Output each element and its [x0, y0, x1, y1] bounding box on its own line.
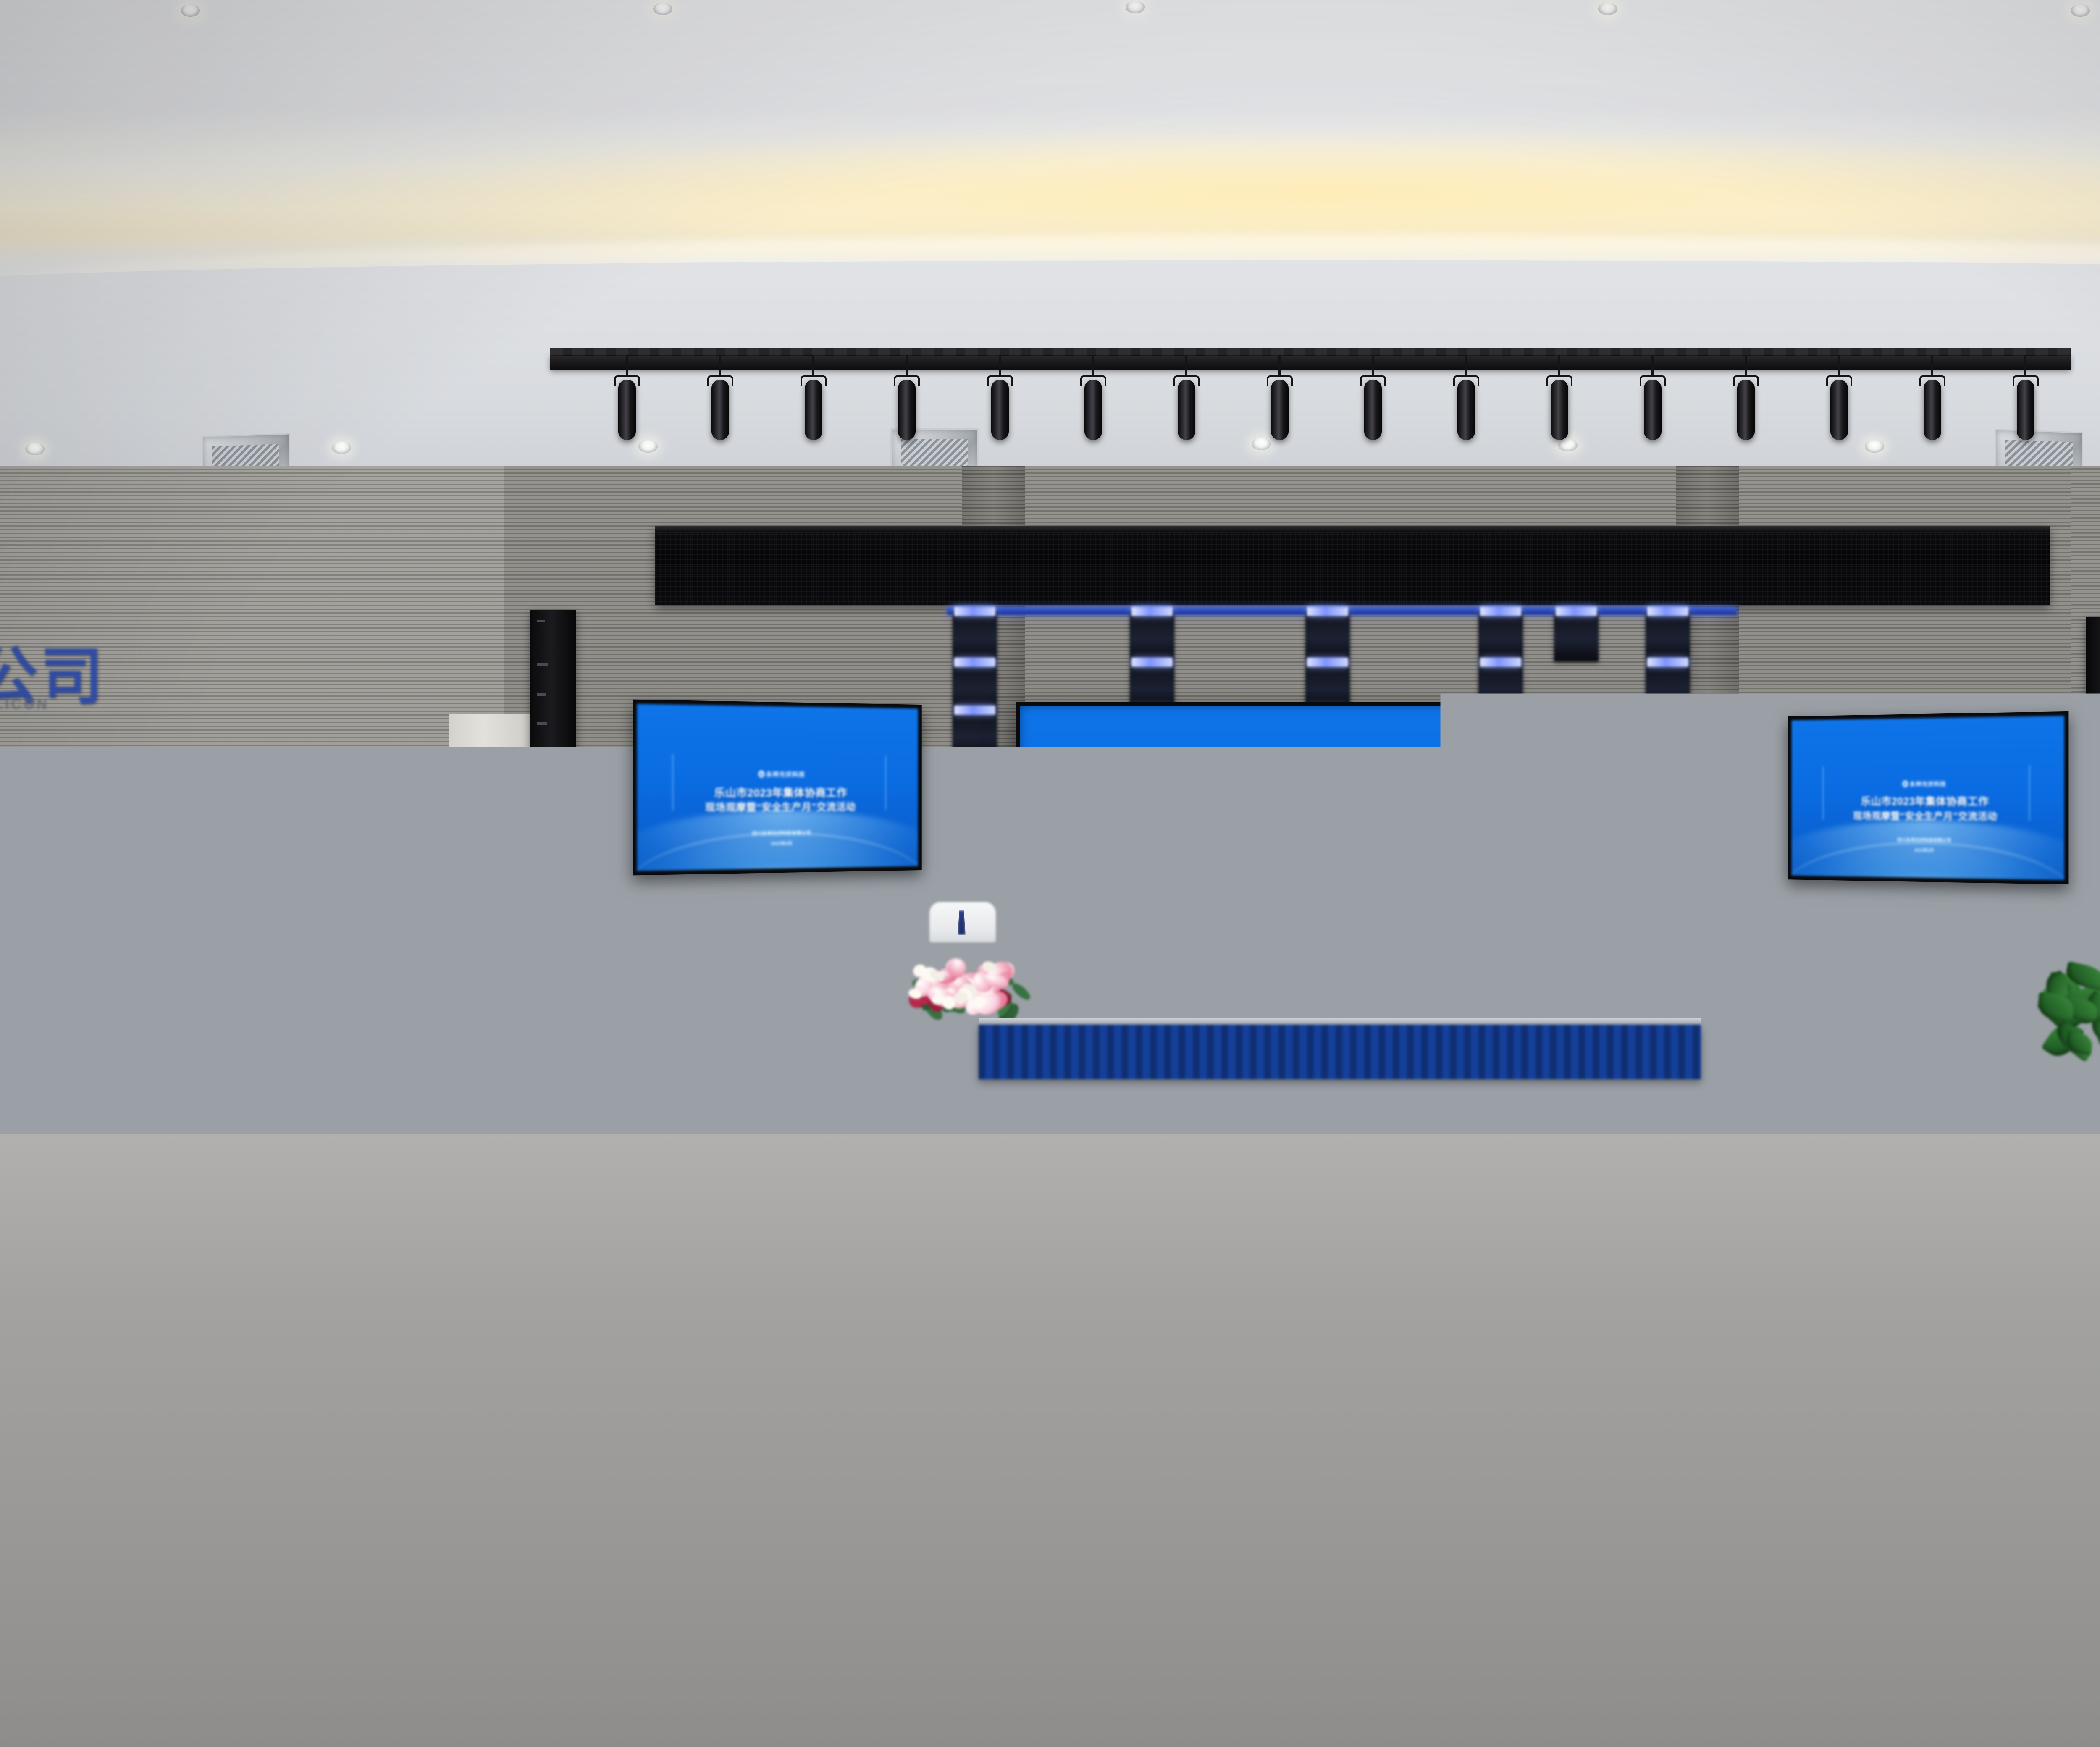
audience-member [0, 1521, 102, 1747]
audience-torso [2087, 1676, 2100, 1747]
audience-head [607, 1131, 654, 1186]
audience-head [1200, 1026, 1229, 1059]
main-screen-logo: 永 永祥光伏科技 YONGXIANG PHOTOVOLTAIC TECHNOLO… [1289, 827, 1391, 850]
audience-head [811, 1134, 858, 1189]
track-spotlight [1825, 369, 1853, 440]
bottle-cap [398, 1159, 408, 1166]
led-weekday: 星期三 [722, 557, 773, 574]
spotlight-housing [898, 380, 916, 440]
audience-head [1119, 1000, 1143, 1028]
bottle-cap [595, 1146, 605, 1153]
audience-head [2015, 1077, 2051, 1119]
audience-head [1276, 1139, 1323, 1194]
conference-room-photo: 公司 SILICON 2023年06月07日 星期三 14:26:46 乐山市2… [0, 0, 2100, 1747]
audience-head [1872, 1233, 1934, 1306]
line-array-speaker-left [530, 610, 576, 770]
audience-head [808, 1031, 836, 1064]
audience-head [775, 1222, 837, 1295]
audience-head [1820, 1001, 1844, 1029]
audience-head [1671, 1031, 1699, 1064]
spotlight-stem [719, 355, 721, 377]
audience-head [1098, 1032, 1126, 1065]
lighting-track-rail [550, 355, 2071, 370]
audience-head [942, 1130, 990, 1184]
track-spotlight [893, 369, 921, 440]
audience-head [847, 1366, 929, 1462]
foreground-head [1094, 1419, 1233, 1587]
stage-light [953, 611, 997, 661]
audience-head [1124, 1075, 1160, 1117]
track-spotlight [1079, 369, 1107, 440]
track-spotlight [1359, 369, 1387, 440]
audience-head [1492, 1077, 1528, 1119]
audience-head [711, 1026, 739, 1059]
stage-light [1554, 611, 1599, 661]
ceiling-downlight [1865, 440, 1884, 453]
stage-light [1646, 611, 1690, 661]
audience-head [133, 1225, 195, 1297]
led-marquee-banner: 2023年06月07日 星期三 14:26:46 乐山市2023年集体协商现场观… [655, 526, 2050, 605]
left-wall-panel [0, 466, 504, 1146]
spotlight-housing [1924, 380, 1941, 440]
left-monitor-slide: 永 永祥光伏科技 乐山市2023年集体协商工作 现场观摩暨“安全生产月”交流活动… [637, 704, 918, 871]
ceiling-downlight [1598, 3, 1617, 15]
audience-head [1591, 1027, 1620, 1060]
water-bottle [592, 1146, 608, 1195]
spotlight-housing [618, 380, 636, 440]
ceiling-downlight [653, 3, 672, 15]
right-monitor-slide: 永 永祥光伏科技 乐山市2023年集体协商工作 现场观摩暨“安全生产月”交流活动… [1792, 716, 2064, 880]
audience-head [1224, 1075, 1260, 1117]
spotlight-stem [1278, 355, 1281, 377]
spotlight-stem [812, 355, 814, 377]
audience-head [747, 1000, 772, 1028]
led-event-title: 乐山市2023年集体协商现场观摩暨“安全生产月”交流活动 [825, 534, 2050, 598]
audience-head [315, 1130, 362, 1185]
audience-head [667, 1521, 780, 1652]
audience-head [951, 1233, 1013, 1305]
audience-head [1424, 997, 1448, 1025]
track-spotlight [1732, 369, 1760, 440]
left-monitor: 永 永祥光伏科技 乐山市2023年集体协商工作 现场观摩暨“安全生产月”交流活动… [633, 700, 922, 876]
audience-head [625, 1078, 661, 1120]
ceiling-downlight [638, 440, 658, 453]
audience-head [1983, 1353, 2066, 1449]
foreground-hand-right [1254, 1398, 1319, 1472]
ceiling-downlight [25, 443, 45, 455]
spotlight-housing [2017, 380, 2034, 440]
spotlight-housing [991, 380, 1009, 440]
spotlight-housing [805, 380, 822, 440]
audience-member [1357, 1541, 1660, 1747]
spotlight-housing [1830, 380, 1848, 440]
led-time: 14:26:46 [712, 575, 782, 593]
spotlight-housing [1364, 380, 1382, 440]
track-spotlight [706, 369, 734, 440]
led-datetime-block: 2023年06月07日 星期三 14:26:46 [669, 538, 825, 593]
spotlight-stem [906, 355, 908, 377]
led-date: 2023年06月07日 [682, 538, 812, 556]
audience-head [1290, 1028, 1318, 1061]
white-pillar-capital [449, 714, 533, 787]
bottle-label [1949, 1178, 1965, 1191]
water-bottle [101, 1251, 121, 1316]
spotlight-housing [1457, 380, 1475, 440]
table-name-placard [1130, 1115, 1180, 1135]
audience-head [2097, 1137, 2100, 1192]
audience-head [1185, 1221, 1247, 1293]
main-screen-logo-cn: 永祥光伏科技 [1305, 827, 1391, 847]
water-bottle [1949, 1151, 1965, 1201]
stage-light [953, 662, 997, 712]
spotlight-housing [1084, 380, 1102, 440]
audience-head [489, 1130, 536, 1185]
water-bottle [1672, 1093, 1683, 1128]
spotlight-stem [1745, 355, 1747, 377]
audience-head [1268, 1001, 1293, 1029]
ceiling-downlight [1558, 439, 1578, 451]
stage-light [1305, 611, 1350, 661]
audience-head [6, 1350, 89, 1445]
bottle-label [101, 1286, 121, 1303]
emergency-exit-sign [491, 800, 508, 814]
stage-light [1478, 611, 1523, 661]
bottle-cap [105, 1251, 118, 1261]
flower-foliage [1010, 981, 1032, 1002]
audience-member [1709, 1528, 2012, 1747]
spotlight-stem [999, 355, 1001, 377]
water-bottle [916, 1092, 927, 1128]
track-spotlight [2012, 369, 2040, 440]
audience-head [499, 1072, 535, 1114]
audience-head [1604, 1074, 1640, 1116]
spotlight-housing [1178, 380, 1195, 440]
audience-head [567, 1223, 629, 1295]
spotlight-stem [1185, 355, 1187, 377]
ceiling-downlight [2071, 4, 2090, 17]
spotlight-stem [1931, 355, 1933, 377]
audience-head [965, 997, 990, 1025]
spotlight-stem [1838, 355, 1840, 377]
audience-head [258, 1359, 340, 1455]
audience-head [1377, 1224, 1439, 1296]
bottle-cap [1674, 1093, 1681, 1098]
spotlight-stem [1092, 355, 1094, 377]
spotlight-stem [1465, 355, 1467, 377]
audience-member [2087, 1545, 2100, 1747]
spotlight-stem [1651, 355, 1654, 377]
audience-head [1853, 1071, 1889, 1113]
wall-lamp [488, 786, 503, 797]
spotlight-housing [1551, 380, 1568, 440]
right-monitor-title-1: 乐山市2023年集体协商工作 [1861, 794, 1989, 809]
audience-head [1350, 1072, 1386, 1114]
spotlight-stem [2024, 355, 2026, 377]
audience-head [1755, 1002, 1779, 1029]
audience-head [815, 1000, 840, 1028]
audience-member-foreground-photographer [1000, 1419, 1327, 1747]
audience-head [1189, 999, 1214, 1027]
bottle-label [1672, 1112, 1683, 1121]
company-wall-sign: 公司 SILICON [0, 626, 88, 752]
audience-head [732, 1078, 768, 1120]
speaker-head [948, 873, 976, 905]
bottle-cap [1952, 1151, 1962, 1158]
led-banner-top-edge [655, 526, 2050, 532]
table-name-placard [1394, 1134, 1453, 1157]
audience-head [1469, 1026, 1498, 1059]
bottle-label [916, 1111, 927, 1120]
logo-hex-icon: 永 [1289, 830, 1304, 847]
audience-head [1949, 1032, 1978, 1065]
bottle-label [395, 1187, 411, 1200]
track-spotlight [986, 369, 1014, 440]
spotlight-stem [1558, 355, 1560, 377]
main-led-screen: 永 永祥光伏科技 YONGXIANG PHOTOVOLTAIC TECHNOLO… [1016, 702, 1663, 1051]
bottle-label [592, 1173, 608, 1186]
audience-head [364, 1223, 426, 1295]
stage-light [953, 710, 997, 760]
audience-head [663, 997, 687, 1025]
bottle-cap [918, 1092, 925, 1097]
track-spotlight [1639, 369, 1667, 440]
right-monitor: 永 永祥光伏科技 乐山市2023年集体协商工作 现场观摩暨“安全生产月”交流活动… [1788, 711, 2068, 884]
spotlight-housing [711, 380, 729, 440]
track-spotlight [1546, 369, 1573, 440]
audience-head [1015, 1030, 1044, 1062]
main-screen-logo-en: YONGXIANG PHOTOVOLTAIC TECHNOLOGY [1305, 847, 1381, 850]
audience-head [897, 999, 921, 1026]
ceiling-downlight [1126, 1, 1145, 13]
main-screen-title-1: 乐山市2023年集体协商工作 [1187, 864, 1492, 898]
spotlight-stem [626, 355, 628, 377]
audience-head [1592, 1222, 1654, 1294]
left-monitor-title-1: 乐山市2023年集体协商工作 [714, 785, 847, 801]
audience-head [849, 1075, 885, 1117]
audience-head [1779, 1027, 1807, 1060]
line-array-speaker-right [2086, 617, 2100, 774]
ceiling-downlight [181, 4, 200, 17]
track-spotlight [1266, 369, 1294, 440]
audience-head [1452, 1541, 1565, 1672]
audience-head [1522, 999, 1546, 1026]
audience-head [1596, 1128, 1643, 1183]
track-spotlight [1173, 369, 1200, 440]
audience-member [572, 1521, 875, 1747]
handbag [496, 1356, 622, 1461]
audience-head [1691, 1364, 1774, 1460]
audience-head [605, 1028, 633, 1060]
track-spotlight [800, 369, 827, 440]
spotlight-housing [1737, 380, 1755, 440]
table-name-placard [653, 1171, 731, 1201]
audience-head [268, 1530, 381, 1661]
ceiling-downlight [332, 441, 351, 454]
audience-head [1392, 1030, 1420, 1062]
track-spotlight [1919, 369, 1946, 440]
audience-head [1054, 999, 1079, 1027]
audience-head [1854, 1028, 1882, 1061]
audience-head [980, 1079, 1016, 1121]
audience-head [1668, 997, 1693, 1025]
audience-head [1804, 1528, 1917, 1659]
audience-head [1769, 1130, 1816, 1184]
right-monitor-logo: 永 永祥光伏科技 [1902, 779, 1946, 788]
spotlight-housing [1644, 380, 1662, 440]
audience-head [2056, 1029, 2085, 1062]
stage-light [1130, 611, 1174, 661]
track-spotlight [1452, 369, 1480, 440]
audience-head [1906, 1001, 1931, 1029]
audience-head [1119, 1136, 1166, 1191]
audience-head [1436, 1363, 1519, 1459]
track-spotlight [613, 369, 641, 440]
left-monitor-logo: 永 永祥光伏科技 [758, 770, 805, 779]
water-bottle [395, 1159, 411, 1210]
audience-head [1731, 1074, 1767, 1116]
audience-head [904, 1031, 932, 1064]
audience-member [173, 1530, 476, 1747]
audience-head [1361, 997, 1386, 1024]
audience-head [1587, 997, 1612, 1025]
wall-sign-english: SILICON [0, 696, 49, 713]
spotlight-stem [1372, 355, 1374, 377]
spotlight-housing [1271, 380, 1289, 440]
main-screen-slide: 永 永祥光伏科技 YONGXIANG PHOTOVOLTAIC TECHNOLO… [1020, 706, 1659, 1047]
